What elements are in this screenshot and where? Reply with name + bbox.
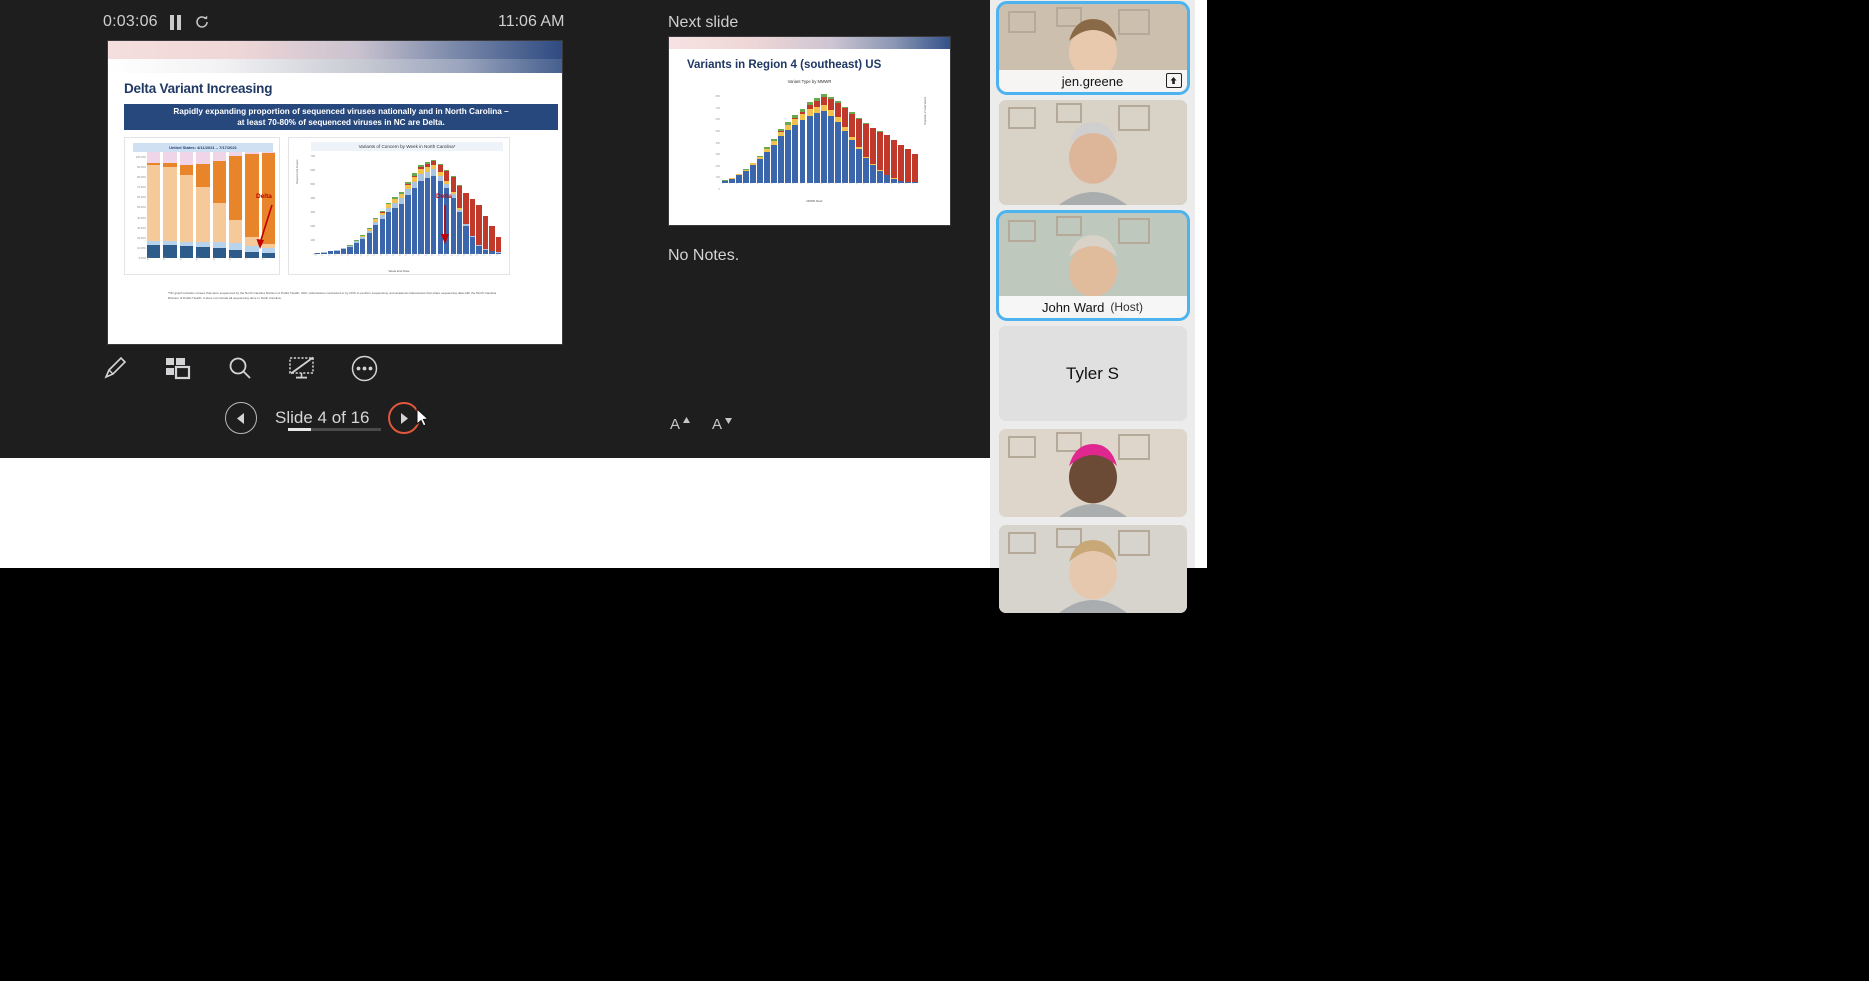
bar-segment (792, 125, 798, 183)
bar (863, 123, 869, 183)
next-chart-xlabel: MMWR Week (807, 200, 823, 203)
bar (856, 118, 862, 183)
bar-segment (412, 188, 417, 254)
bar (180, 152, 193, 258)
bar-segment (884, 135, 890, 174)
axis-tick: 700 (301, 154, 315, 158)
bar-segment (898, 145, 904, 181)
bar-segment (163, 167, 176, 241)
bar (470, 199, 475, 254)
notes-text: No Notes. (668, 247, 739, 265)
axis-tick: 90.00% (128, 166, 146, 169)
bar-segment (180, 152, 193, 165)
bar-segment (180, 175, 193, 242)
increase-font-letter: A (670, 416, 680, 433)
mouse-cursor (416, 408, 429, 427)
bar-segment (828, 116, 834, 184)
bar (213, 152, 226, 258)
bar-segment (196, 164, 209, 187)
lower-white-panel (0, 458, 990, 568)
bar-segment (842, 108, 848, 127)
bar (412, 173, 417, 254)
next-slide-title: Variants in Region 4 (southeast) US (687, 59, 881, 71)
bar-segment (380, 219, 385, 254)
axis-tick: 300 (707, 153, 720, 156)
bar-segment (905, 149, 911, 182)
bar-segment (821, 97, 827, 105)
chart-nc-yaxis: 7006005004003002001000 (301, 154, 315, 256)
bar (483, 216, 488, 254)
bar (405, 182, 410, 254)
chart-nc-variants: Variants of Concern by Week in North Car… (288, 137, 510, 275)
participant-tile[interactable] (999, 525, 1187, 613)
bar (489, 226, 494, 254)
reload-icon[interactable] (194, 14, 210, 30)
participant-name: John Ward (1042, 300, 1104, 315)
bar-segment (849, 140, 855, 183)
axis-tick: 100 (301, 238, 315, 242)
increase-font-size-button[interactable]: A (670, 416, 690, 436)
bar-segment (147, 165, 160, 241)
slide-banner: Rapidly expanding proportion of sequence… (124, 104, 558, 130)
slide-gradient-band (108, 59, 562, 73)
bar (196, 152, 209, 258)
bar-segment (405, 195, 410, 254)
caret-up-icon (683, 417, 690, 424)
axis-tick: 200 (707, 165, 720, 168)
bar (386, 203, 391, 254)
slide-banner-line1: Rapidly expanding proportion of sequence… (173, 106, 508, 117)
stop-screen-share-icon[interactable] (287, 351, 317, 385)
bar (367, 228, 372, 254)
slide-progress-bar[interactable] (288, 428, 381, 431)
axis-tick: 0.00% (128, 257, 146, 260)
bar-segment (807, 116, 813, 183)
delta-annotation-right: Delta (436, 193, 452, 200)
axis-tick: 200 (301, 224, 315, 228)
bar (877, 131, 883, 183)
bar-segment (431, 176, 436, 254)
bar-segment (229, 156, 242, 220)
notes-panel: Next slide Variants in Region 4 (southea… (655, 0, 990, 458)
bar (792, 115, 798, 183)
axis-tick: 80.00% (128, 176, 146, 179)
bar-segment (147, 152, 160, 163)
axis-tick: 50.00% (128, 206, 146, 209)
participant-video (999, 429, 1187, 517)
play-right-icon (397, 412, 410, 425)
bar (147, 152, 160, 258)
bar (431, 160, 436, 255)
bar (905, 149, 911, 183)
axis-tick: 70.00% (128, 186, 146, 189)
caret-down-icon (725, 417, 732, 424)
bar (821, 94, 827, 183)
axis-tick: 700 (707, 107, 720, 110)
next-slide-button[interactable] (388, 402, 420, 434)
bar-segment (213, 161, 226, 203)
bar-segment (213, 203, 226, 242)
chart-nc-xlabel: Week End Date (389, 269, 410, 273)
bar (764, 147, 770, 183)
bar (229, 152, 242, 258)
bar-segment (800, 120, 806, 183)
next-chart-yaxis: 8007006005004003002001000 (707, 95, 720, 191)
next-slide-label: Next slide (668, 14, 738, 32)
host-badge: (Host) (1110, 300, 1143, 314)
next-slide-gradient (669, 37, 950, 49)
bar-segment (463, 193, 468, 224)
bar (835, 101, 841, 183)
bar-segment (196, 187, 209, 242)
next-slide-thumbnail[interactable]: Variants in Region 4 (southeast) US Vari… (668, 36, 951, 226)
bar (457, 185, 462, 254)
axis-tick: 800 (707, 95, 720, 98)
participant-tile[interactable]: jen.greene (999, 4, 1187, 92)
next-slide-chart: 8007006005004003002001000 12345678910111… (707, 89, 922, 199)
bar-segment (835, 122, 841, 183)
bar (771, 139, 777, 183)
screen-share-icon (1166, 73, 1182, 88)
play-left-icon (235, 412, 248, 425)
participant-name: jen.greene (1062, 74, 1123, 89)
bar-segment (392, 208, 397, 254)
chart-nc-ylabel: Sequenced Cases (295, 159, 299, 184)
bar (891, 140, 897, 183)
bar (842, 107, 848, 184)
axis-tick: 300 (301, 210, 315, 214)
decrease-font-letter: A (712, 416, 722, 433)
previous-slide-button[interactable] (225, 402, 257, 434)
bar (870, 128, 876, 183)
next-chart-xaxis: 1234567891011121314151617181920212223242… (722, 184, 918, 196)
axis-tick: 20.00% (128, 237, 146, 240)
bar-segment (213, 152, 226, 160)
pause-icon[interactable] (170, 15, 182, 30)
bar-segment (849, 114, 855, 138)
bar-segment (399, 204, 404, 254)
next-slide-subtitle: Variant Type by MMWR (788, 79, 832, 84)
bar (163, 152, 176, 258)
axis-tick: 10.00% (128, 247, 146, 250)
bar (785, 122, 791, 183)
slide-charts: United States: 4/11/2021 – 7/17/2021 100… (124, 137, 558, 275)
slide-gradient-header (108, 41, 562, 59)
annotate-pen-icon[interactable] (100, 351, 130, 385)
bar (898, 145, 904, 183)
delta-annotation-left: Delta (256, 193, 272, 200)
axis-tick: 30.00% (128, 227, 146, 230)
bar-segment (444, 171, 449, 181)
meeting-timer: 0:03:06 (103, 13, 158, 31)
bar-segment (373, 225, 378, 254)
bar-segment (821, 111, 827, 183)
slide-footnote: *NC graph includes viruses that were seq… (168, 291, 498, 300)
bar-segment (877, 132, 883, 170)
participant-tile[interactable]: Tyler S (999, 326, 1187, 421)
chart-nc-bars (315, 156, 501, 254)
bar-segment (828, 99, 834, 110)
bar-segment (386, 212, 391, 254)
participant-tile[interactable] (999, 100, 1187, 205)
notes-font-controls: A A (670, 416, 732, 436)
axis-tick: 100 (707, 176, 720, 179)
chart-nc-xaxis: 1/21/91/161/231/302/62/132/202/273/63/13… (315, 256, 501, 268)
bar-segment (778, 136, 784, 183)
bar (807, 102, 813, 183)
next-chart-bars (722, 93, 918, 183)
chart-us-title: United States: 4/11/2021 – 7/17/2021 (133, 143, 273, 152)
bar-segment (425, 178, 430, 254)
bar-segment (196, 152, 209, 164)
search-icon[interactable] (225, 351, 255, 385)
bar (392, 197, 397, 254)
bar (814, 98, 820, 183)
bar (380, 211, 385, 254)
bar-segment (163, 152, 176, 163)
bar (425, 162, 430, 254)
axis-tick: 0 (301, 252, 315, 256)
bar (476, 205, 481, 254)
bar (800, 109, 806, 183)
bar-segment (863, 124, 869, 157)
bar-segment (483, 216, 488, 250)
bar (399, 192, 404, 254)
bar (828, 97, 834, 183)
more-options-icon[interactable] (350, 351, 380, 385)
bar (778, 129, 784, 183)
axis-tick: 500 (301, 182, 315, 186)
bar-segment (425, 172, 430, 179)
bar-segment (451, 177, 456, 192)
bar (418, 165, 423, 254)
axis-tick: 400 (301, 196, 315, 200)
bar-segment (457, 212, 462, 254)
bar-segment (476, 205, 481, 244)
next-chart-right-label: Proportion of Delta Variant (924, 97, 927, 125)
bar-segment (842, 131, 848, 183)
bar-segment (771, 145, 777, 183)
bar-segment (870, 128, 876, 164)
chart-nc-title: Variants of Concern by Week in North Car… (311, 142, 503, 151)
presenter-toolbar (100, 348, 380, 388)
slide-counter: Slide 4 of 16 (275, 408, 370, 428)
bar (849, 112, 855, 183)
bar-segment (856, 119, 862, 147)
axis-tick: 600 (707, 118, 720, 121)
participant-video (999, 100, 1187, 205)
axis-tick: 100.00% (128, 156, 146, 159)
bar-segment (785, 130, 791, 183)
screen-root: 0:03:06 11:06 AM Delta Variant Increasin… (0, 0, 1869, 981)
bar-segment (496, 237, 501, 252)
axis-tick: 60.00% (128, 196, 146, 199)
current-slide[interactable]: Delta Variant Increasing Rapidly expandi… (107, 40, 563, 345)
bar (373, 218, 378, 254)
participant-namebar: jen.greene (999, 70, 1187, 92)
delta-arrow-left-icon (255, 203, 279, 253)
participant-name-placeholder: Tyler S (999, 326, 1187, 421)
bar-segment (180, 165, 193, 176)
right-edge-panel (1195, 0, 1207, 568)
slide-title: Delta Variant Increasing (124, 81, 272, 96)
decrease-font-size-button[interactable]: A (712, 416, 732, 436)
bar-segment (418, 174, 423, 181)
slide-banner-line2: at least 70-80% of sequenced viruses in … (237, 117, 445, 128)
bar-segment (463, 226, 468, 254)
bar (463, 193, 468, 254)
axis-tick: 400 (707, 142, 720, 145)
bar-segment (457, 186, 462, 208)
layout-icon[interactable] (162, 351, 192, 385)
bar-segment (814, 113, 820, 183)
delta-arrow-right-icon (439, 203, 453, 247)
bar (884, 135, 890, 183)
bar-segment (418, 181, 423, 254)
axis-tick: 0 (707, 188, 720, 191)
chart-us-xaxis: 4/114/255/95/236/56/197/37/17 (147, 260, 275, 270)
axis-tick: 600 (301, 168, 315, 172)
bar-segment (470, 199, 475, 235)
chart-us-yaxis: 100.00%90.00%80.00%70.00%60.00%50.00%40.… (128, 156, 146, 260)
bar-segment (489, 226, 494, 251)
bar-segment (835, 103, 841, 118)
clock-time: 11:06 AM (498, 13, 564, 31)
participant-tile[interactable]: John Ward(Host) (999, 213, 1187, 318)
participant-namebar: John Ward(Host) (999, 296, 1187, 318)
bar-segment (229, 220, 242, 243)
participant-tile[interactable] (999, 429, 1187, 517)
participant-video (999, 525, 1187, 613)
participant-strip[interactable]: jen.greeneJohn Ward(Host)Tyler S (990, 0, 1195, 568)
bar-segment (891, 140, 897, 178)
axis-tick: 40.00% (128, 217, 146, 220)
axis-tick: 500 (707, 130, 720, 133)
